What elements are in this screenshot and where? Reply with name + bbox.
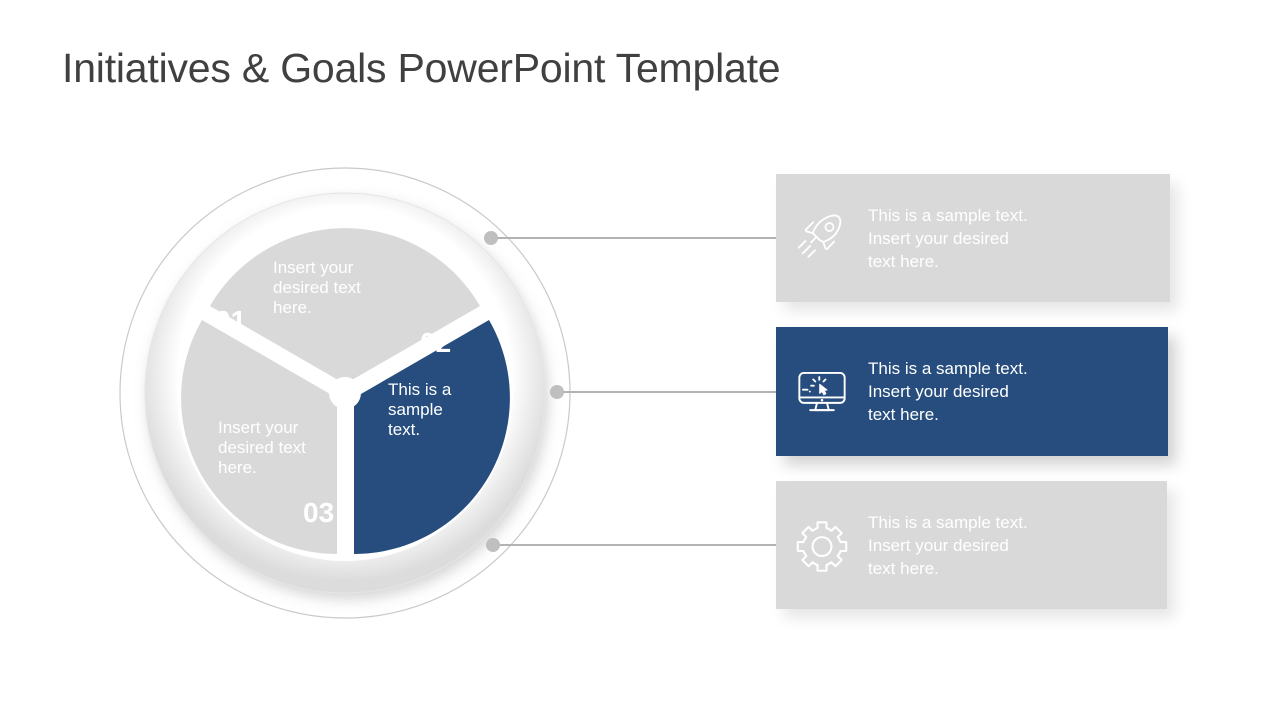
page-title: Initiatives & Goals PowerPoint Template bbox=[62, 40, 780, 96]
info-card-2-line3: text here. bbox=[868, 403, 1028, 426]
info-card-3[interactable]: This is a sample text. Insert your desir… bbox=[776, 481, 1167, 609]
connector-dot-1 bbox=[484, 231, 498, 245]
wheel-diagram: Insert your desired text here. 01 02 Thi… bbox=[110, 158, 590, 638]
info-card-1-line2: Insert your desired bbox=[868, 227, 1028, 250]
info-card-3-text: This is a sample text. Insert your desir… bbox=[868, 511, 1028, 580]
info-card-3-line1: This is a sample text. bbox=[868, 511, 1028, 534]
info-card-2[interactable]: This is a sample text. Insert your desir… bbox=[776, 327, 1168, 456]
wheel-graphic bbox=[110, 158, 590, 638]
gear-icon bbox=[776, 516, 868, 574]
connector-dot-2 bbox=[550, 385, 564, 399]
info-card-3-line2: Insert your desired bbox=[868, 534, 1028, 557]
info-card-1-line1: This is a sample text. bbox=[868, 204, 1028, 227]
info-card-2-text: This is a sample text. Insert your desir… bbox=[868, 357, 1028, 426]
connector-line-3 bbox=[497, 544, 780, 546]
monitor-click-icon bbox=[776, 363, 868, 421]
connector-line-1 bbox=[495, 237, 780, 239]
rocket-icon bbox=[776, 210, 868, 266]
connector-line-2 bbox=[561, 391, 780, 393]
wheel-hub bbox=[329, 377, 361, 409]
info-card-1[interactable]: This is a sample text. Insert your desir… bbox=[776, 174, 1170, 302]
info-card-2-line2: Insert your desired bbox=[868, 380, 1028, 403]
info-card-2-line1: This is a sample text. bbox=[868, 357, 1028, 380]
info-card-1-text: This is a sample text. Insert your desir… bbox=[868, 204, 1028, 273]
connector-dot-3 bbox=[486, 538, 500, 552]
info-card-3-line3: text here. bbox=[868, 557, 1028, 580]
info-card-1-line3: text here. bbox=[868, 250, 1028, 273]
